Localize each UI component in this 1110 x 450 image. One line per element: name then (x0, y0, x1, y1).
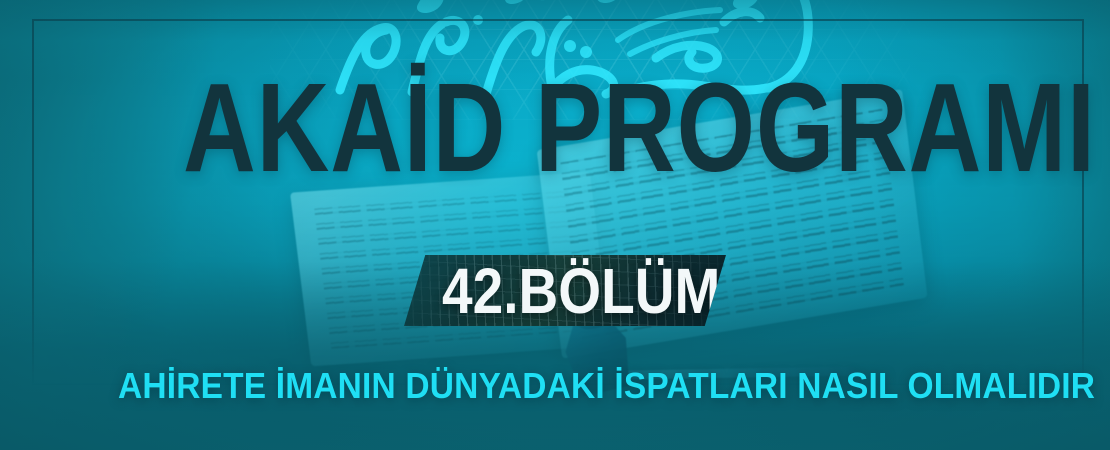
akaid-program-banner: AKAİD PROGRAMI 42.BÖLÜM AHİRETE İMANIN D… (0, 0, 1110, 450)
episode-subtitle: AHİRETE İMANIN DÜNYADAKİ İSPATLARI NASIL… (118, 366, 1095, 406)
page-title: AKAİD PROGRAMI (183, 74, 1096, 182)
episode-badge-label: 42.BÖLÜM (442, 257, 720, 325)
episode-badge: 42.BÖLÜM (404, 255, 726, 326)
